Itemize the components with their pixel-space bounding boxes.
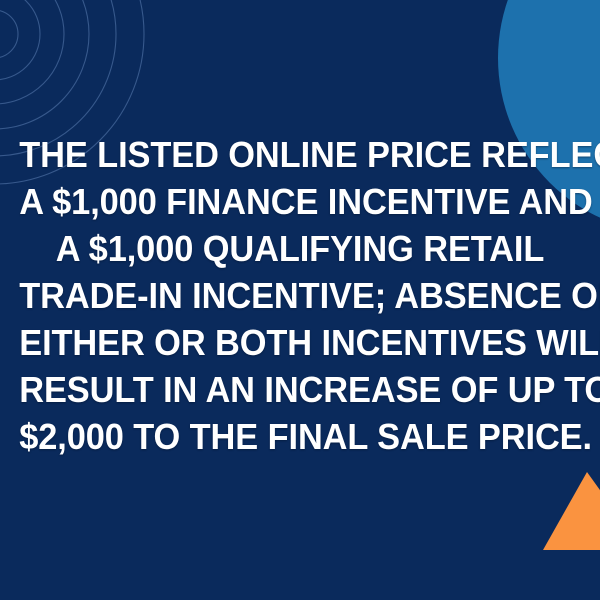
disclaimer-line-3: A $1,000 QUALIFYING RETAIL <box>19 225 581 272</box>
disclaimer-line-2: A $1,000 FINANCE INCENTIVE AND <box>19 178 581 225</box>
disclaimer-line-4: TRADE-IN INCENTIVE; ABSENCE OF <box>19 272 581 319</box>
orange-triangle-decoration <box>543 472 600 550</box>
disclaimer-line-5: EITHER OR BOTH INCENTIVES WILL <box>19 319 581 366</box>
disclaimer-banner: THE LISTED ONLINE PRICE REFLECTS A $1,00… <box>0 0 600 600</box>
disclaimer-text: THE LISTED ONLINE PRICE REFLECTS A $1,00… <box>14 131 587 460</box>
disclaimer-line-6: RESULT IN AN INCREASE OF UP TO <box>19 366 581 413</box>
disclaimer-line-7: $2,000 TO THE FINAL SALE PRICE. <box>19 413 581 460</box>
disclaimer-line-1: THE LISTED ONLINE PRICE REFLECTS <box>19 131 581 178</box>
